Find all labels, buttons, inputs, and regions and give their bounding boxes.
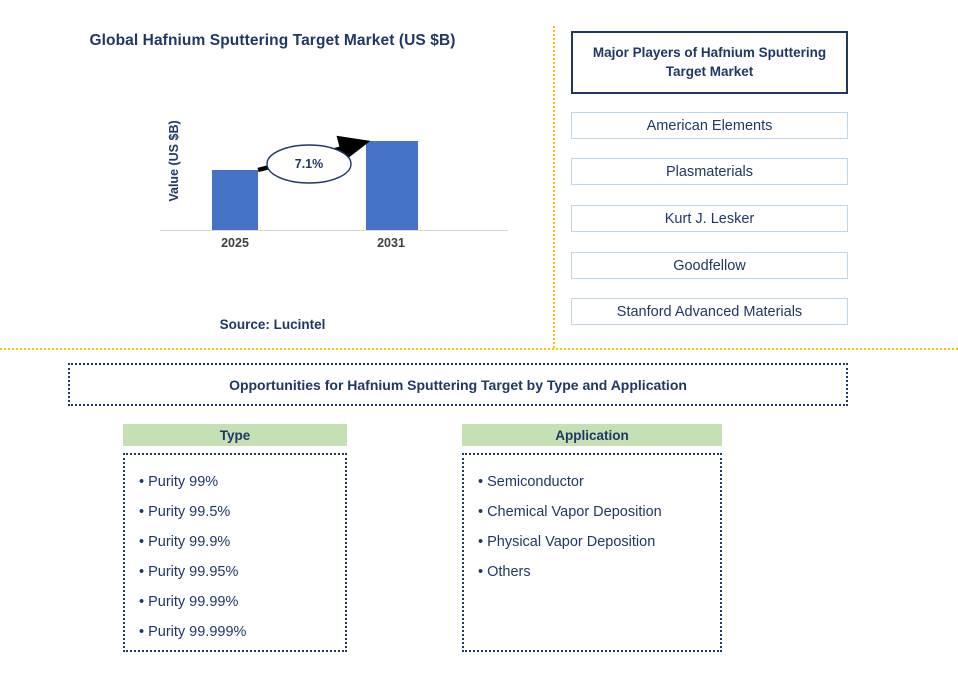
- bar-chart: Value (US $B) 2025 2031 7.1%: [150, 118, 520, 263]
- cagr-value-label: 7.1%: [274, 157, 344, 171]
- bullet-icon: •: [478, 534, 483, 550]
- chart-title: Global Hafnium Sputtering Target Market …: [0, 32, 545, 50]
- player-item-plasmaterials[interactable]: Plasmaterials: [571, 158, 848, 185]
- list-item-label: Purity 99%: [148, 474, 218, 490]
- list-item: •Semiconductor: [478, 467, 706, 497]
- major-players-header: Major Players of Hafnium Sputtering Targ…: [571, 31, 848, 94]
- list-item: •Purity 99.999%: [139, 617, 331, 647]
- list-item: •Others: [478, 557, 706, 587]
- vertical-divider: [553, 26, 555, 348]
- bullet-icon: •: [139, 474, 144, 490]
- column-body-type: •Purity 99% •Purity 99.5% •Purity 99.9% …: [123, 453, 347, 652]
- bullet-icon: •: [139, 594, 144, 610]
- bullet-icon: •: [139, 504, 144, 520]
- column-header-type: Type: [123, 424, 347, 446]
- source-label: Source: Lucintel: [0, 317, 545, 332]
- player-item-american-elements[interactable]: American Elements: [571, 112, 848, 139]
- list-item: •Physical Vapor Deposition: [478, 527, 706, 557]
- column-body-application: •Semiconductor •Chemical Vapor Depositio…: [462, 453, 722, 652]
- infographic-page: Global Hafnium Sputtering Target Market …: [0, 0, 958, 700]
- column-header-application: Application: [462, 424, 722, 446]
- cagr-arrow-icon: [150, 118, 520, 263]
- list-item: •Purity 99.99%: [139, 587, 331, 617]
- list-item-label: Purity 99.99%: [148, 594, 238, 610]
- list-item: •Purity 99.5%: [139, 497, 331, 527]
- list-item: •Purity 99.95%: [139, 557, 331, 587]
- list-item-label: Semiconductor: [487, 474, 584, 490]
- list-item-label: Purity 99.95%: [148, 564, 238, 580]
- bullet-icon: •: [478, 564, 483, 580]
- player-item-stanford-advanced-materials[interactable]: Stanford Advanced Materials: [571, 298, 848, 325]
- player-item-goodfellow[interactable]: Goodfellow: [571, 252, 848, 279]
- list-item-label: Others: [487, 564, 531, 580]
- opportunities-banner: Opportunities for Hafnium Sputtering Tar…: [68, 363, 848, 406]
- bullet-icon: •: [139, 624, 144, 640]
- list-item: •Chemical Vapor Deposition: [478, 497, 706, 527]
- bullet-icon: •: [139, 564, 144, 580]
- list-item-label: Purity 99.5%: [148, 504, 230, 520]
- list-item-label: Physical Vapor Deposition: [487, 534, 655, 550]
- bullet-icon: •: [139, 534, 144, 550]
- list-item: •Purity 99%: [139, 467, 331, 497]
- list-item: •Purity 99.9%: [139, 527, 331, 557]
- list-item-label: Purity 99.999%: [148, 624, 246, 640]
- player-item-kurt-j-lesker[interactable]: Kurt J. Lesker: [571, 205, 848, 232]
- bullet-icon: •: [478, 474, 483, 490]
- horizontal-divider: [0, 348, 958, 350]
- list-item-label: Purity 99.9%: [148, 534, 230, 550]
- list-item-label: Chemical Vapor Deposition: [487, 504, 662, 520]
- bullet-icon: •: [478, 504, 483, 520]
